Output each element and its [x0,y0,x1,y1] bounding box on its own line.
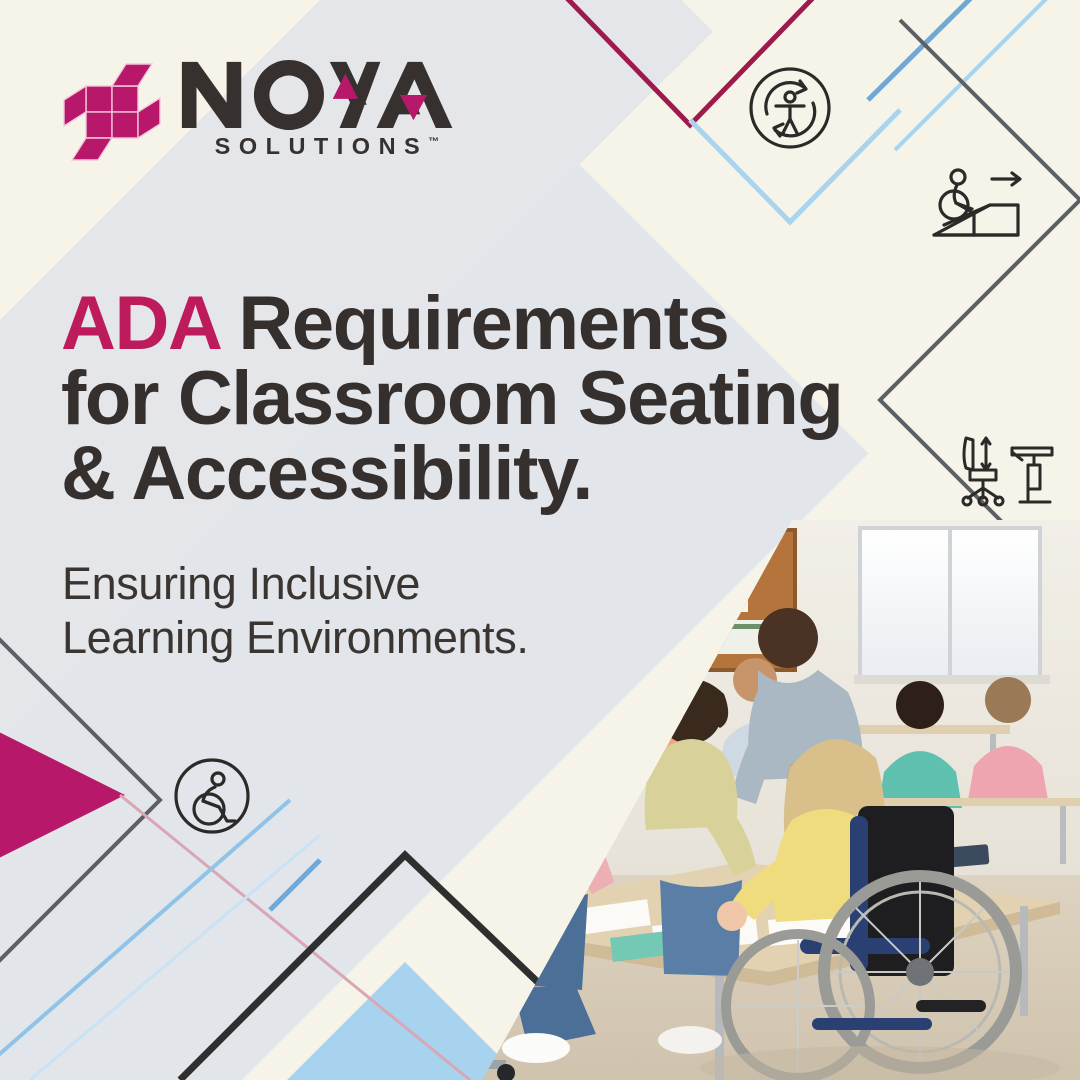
nova-wordmark-icon [178,58,470,130]
subtitle-line2: Learning Environments. [62,612,528,663]
headline-line2: for Classroom Seating [61,356,842,441]
universal-access-icon [748,66,832,150]
nova-solutions-logo[interactable]: SOLUTIONS™ [60,58,470,166]
adjustable-desk-chair-icon [958,432,1058,508]
wheelchair-ramp-icon [930,163,1030,245]
nova-pinwheel-mark-icon [60,58,164,166]
headline-accent-word: ADA [61,281,219,366]
headline-line1-rest: Requirements [219,281,729,366]
page-title: ADA Requirements for Classroom Seating &… [61,287,961,512]
logo-tagline: SOLUTIONS™ [215,133,440,160]
subtitle-line1: Ensuring Inclusive [62,558,420,609]
logo-tagline-text: SOLUTIONS [215,133,429,159]
ada-classroom-seating-poster: Inclusive classroom: students at height-… [0,0,1080,1080]
headline-line3: & Accessibility. [61,431,592,516]
trademark-symbol: ™ [428,136,439,148]
subtitle: Ensuring Inclusive Learning Environments… [62,557,702,665]
wheelchair-accessible-icon [173,757,251,835]
